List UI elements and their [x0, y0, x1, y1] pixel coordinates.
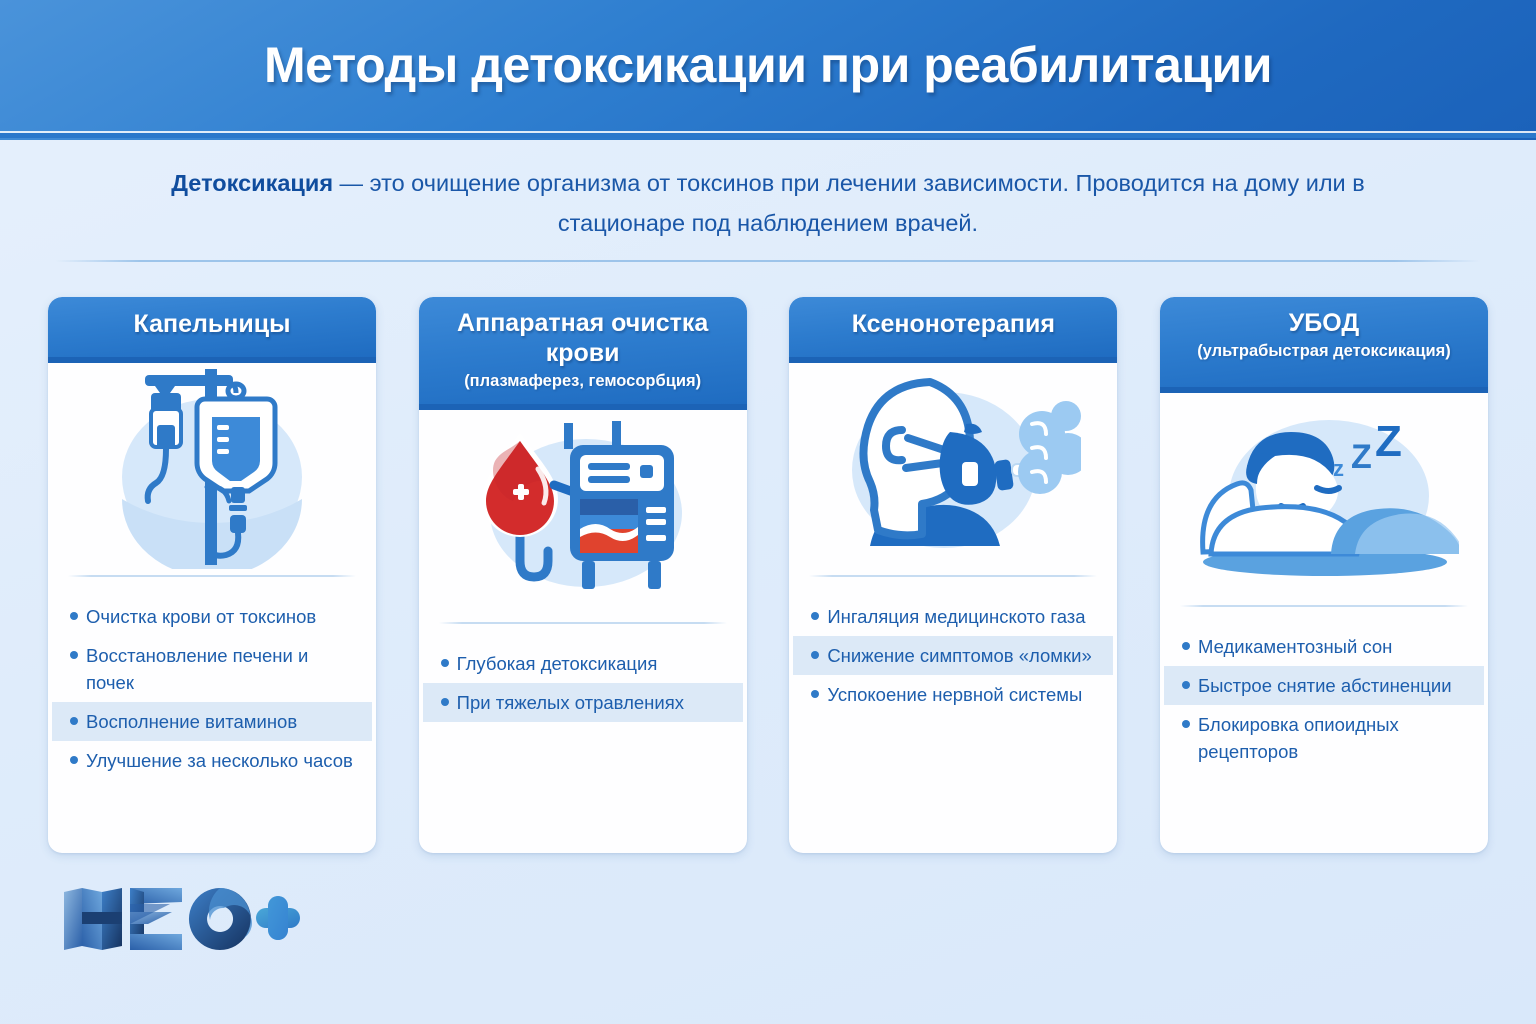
bullet-dot: [1182, 681, 1190, 689]
list-item: Восстановление печени и почек: [52, 636, 372, 702]
bullet-dot: [70, 756, 78, 764]
card-benefits-list: Медикаментозный сон Быстрое снятие абсти…: [1160, 607, 1488, 853]
list-item-label: Улучшение за несколько часов: [86, 750, 353, 771]
neo-plus-logo: [60, 884, 300, 954]
page-title: Методы детоксикации при реабилитации: [0, 36, 1536, 94]
bullet-dot: [70, 717, 78, 725]
svg-text:z: z: [1333, 456, 1344, 481]
card-title: Ксенонотерапия: [801, 309, 1105, 339]
list-item: Очистка крови от токсинов: [52, 597, 372, 636]
header-rule-dark: [0, 133, 1536, 138]
card-illustration: [419, 410, 747, 622]
card-benefits-list: Очистка крови от токсинов Восстановление…: [48, 577, 376, 853]
bullet-dot: [70, 612, 78, 620]
card-illustration: [789, 363, 1117, 575]
svg-text:Z: Z: [1375, 417, 1402, 466]
intro-body: — это очищение организма от токсинов при…: [333, 170, 1365, 236]
card-ubod[interactable]: УБОД (ультрабыстрая детоксикация): [1160, 297, 1488, 853]
card-benefits-list: Ингаляция медицинското газа Снижение сим…: [789, 577, 1117, 853]
bullet-dot: [1182, 642, 1190, 650]
list-item: Ингаляция медицинското газа: [793, 597, 1113, 636]
bullet-dot: [811, 651, 819, 659]
card-title: Аппаратная очистка крови: [431, 308, 735, 368]
method-cards-row: Капельницы: [48, 297, 1488, 853]
sleeping-patient-icon: Z Z z: [1189, 404, 1459, 594]
card-subtitle: (плазмаферез, гемосорбция): [431, 369, 735, 393]
infographic-page: Методы детоксикации при реабилитации Дет…: [0, 0, 1536, 1024]
list-item: Медикаментозный сон: [1164, 627, 1484, 666]
list-item-label: Медикаментозный сон: [1198, 636, 1392, 657]
gas-inhalation-mask-icon: [826, 372, 1081, 567]
card-header: Капельницы: [48, 297, 376, 363]
card-title: Капельницы: [60, 309, 364, 339]
card-benefits-list: Глубокая детоксикация При тяжелых отравл…: [419, 624, 747, 853]
list-item-label: Глубокая детоксикация: [457, 653, 658, 674]
intro-lead: Детоксикация: [171, 170, 333, 196]
bullet-dot: [811, 690, 819, 698]
card-header: Аппаратная очистка крови (плазмаферез, г…: [419, 297, 747, 410]
list-item: Глубокая детоксикация: [423, 644, 743, 683]
list-item-label: Блокировка опиоидных рецепторов: [1198, 714, 1399, 762]
list-item: При тяжелых отравлениях: [423, 683, 743, 722]
list-item-label: Ингаляция медицинското газа: [827, 606, 1085, 627]
list-item-label: Восполнение витаминов: [86, 711, 297, 732]
card-illustration: Z Z z: [1160, 393, 1488, 605]
list-item-label: При тяжелых отравлениях: [457, 692, 684, 713]
list-item: Снижение симптомов «ломки»: [793, 636, 1113, 675]
card-apparatnaya-ochistka-krovi[interactable]: Аппаратная очистка крови (плазмаферез, г…: [419, 297, 747, 853]
card-header: УБОД (ультрабыстрая детоксикация): [1160, 297, 1488, 393]
list-item-label: Очистка крови от токсинов: [86, 606, 316, 627]
list-item: Восполнение витаминов: [52, 702, 372, 741]
bullet-dot: [811, 612, 819, 620]
neo-plus-logo-mark: [60, 884, 300, 954]
iv-drip-icon: [87, 369, 337, 569]
intro-divider: [55, 260, 1480, 262]
intro-paragraph: Детоксикация — это очищение организма от…: [168, 163, 1368, 243]
list-item-label: Быстрое снятие абстиненции: [1198, 675, 1452, 696]
card-ksenonoterapiya[interactable]: Ксенонотерапия: [789, 297, 1117, 853]
list-item-label: Восстановление печени и почек: [86, 645, 308, 693]
list-item-label: Успокоение нервной системы: [827, 684, 1082, 705]
blood-purification-icon: [458, 421, 708, 611]
bullet-dot: [70, 651, 78, 659]
list-item: Блокировка опиоидных рецепторов: [1164, 705, 1484, 771]
bullet-dot: [1182, 720, 1190, 728]
bullet-dot: [441, 698, 449, 706]
bullet-dot: [441, 659, 449, 667]
list-item: Быстрое снятие абстиненции: [1164, 666, 1484, 705]
card-header: Ксенонотерапия: [789, 297, 1117, 363]
card-title: УБОД: [1172, 308, 1476, 338]
card-kapelnitsy[interactable]: Капельницы: [48, 297, 376, 853]
list-item-label: Снижение симптомов «ломки»: [827, 645, 1091, 666]
list-item: Улучшение за несколько часов: [52, 741, 372, 780]
svg-text:Z: Z: [1351, 438, 1372, 476]
header-band: Методы детоксикации при реабилитации: [0, 0, 1536, 140]
list-item: Успокоение нервной системы: [793, 675, 1113, 714]
card-illustration: [48, 363, 376, 575]
card-subtitle: (ультрабыстрая детоксикация): [1172, 339, 1476, 363]
